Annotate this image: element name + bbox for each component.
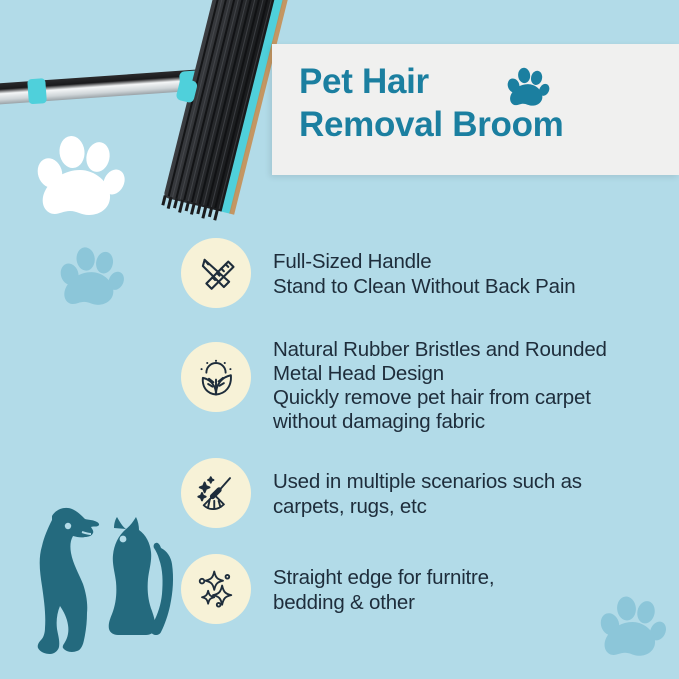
product-image-broom xyxy=(0,0,290,232)
page-title-line-2: Removal Broom xyxy=(299,103,671,146)
feature-item: Straight edge for furnitre, bedding & ot… xyxy=(181,554,661,624)
paw-print-icon xyxy=(55,243,125,307)
feature-text: Natural Rubber Bristles and Rounded Meta… xyxy=(273,336,607,434)
feature-line: Stand to Clean Without Back Pain xyxy=(273,274,575,299)
feature-line: Straight edge for furnitre, xyxy=(273,565,494,590)
feature-line: carpets, rugs, etc xyxy=(273,494,582,519)
feature-item: Full-Sized Handle Stand to Clean Without… xyxy=(181,238,661,308)
title-panel: Pet Hair Removal Broom xyxy=(272,44,679,175)
feature-line: bedding & other xyxy=(273,590,494,615)
product-infographic: Pet Hair Removal Broom xyxy=(0,0,679,679)
feature-line: Used in multiple scenarios such as xyxy=(273,469,582,494)
feature-text: Full-Sized Handle Stand to Clean Without… xyxy=(273,238,575,299)
ruler-pencil-icon xyxy=(181,238,251,308)
feature-item: Used in multiple scenarios such as carpe… xyxy=(181,458,661,528)
feature-line: Quickly remove pet hair from carpet xyxy=(273,386,607,410)
leaf-sun-icon xyxy=(181,342,251,412)
feature-text: Straight edge for furnitre, bedding & ot… xyxy=(273,554,494,615)
page-title-line-1: Pet Hair xyxy=(299,60,671,103)
feature-text: Used in multiple scenarios such as carpe… xyxy=(273,458,582,519)
dog-and-cat-silhouette xyxy=(22,492,202,672)
feature-item: Natural Rubber Bristles and Rounded Meta… xyxy=(181,336,661,434)
paw-print-icon xyxy=(504,64,550,108)
feature-line: Metal Head Design xyxy=(273,362,607,386)
feature-line: Full-Sized Handle xyxy=(273,249,575,274)
feature-list: Full-Sized Handle Stand to Clean Without… xyxy=(181,238,661,624)
feature-line: Natural Rubber Bristles and Rounded xyxy=(273,338,607,362)
feature-line: without damaging fabric xyxy=(273,410,607,434)
